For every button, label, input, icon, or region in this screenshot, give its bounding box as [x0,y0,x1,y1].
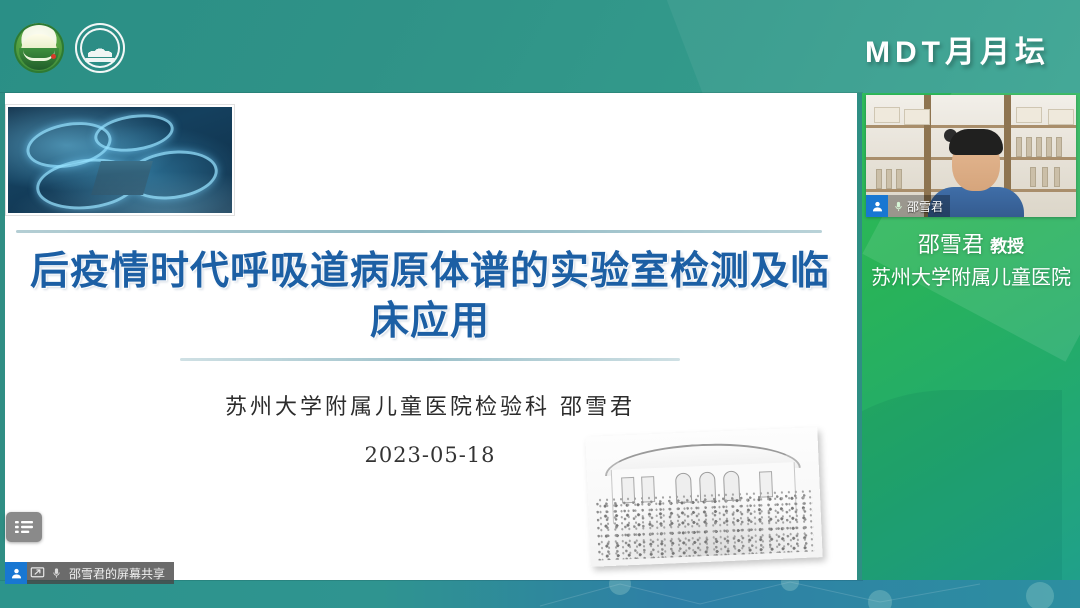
meeting-screen: MDT月月坛 后疫情时代呼吸道病原体谱的实验室检测及临床应用 苏州大学附属儿童医… [0,0,1080,608]
footer-strip [0,580,1080,608]
slide-author: 苏州大学附属儿童医院检验科 邵雪君 [60,389,800,421]
app-header: MDT月月坛 [0,0,1080,93]
video-participant-name: 邵雪君 [907,198,950,215]
speaker-organization: 苏州大学附属儿童医院 [862,264,1080,292]
slide-divider-middle [180,358,680,361]
speaker-name-line: 邵雪君 教授 [862,229,1080,260]
screen-share-icon [27,567,48,580]
shared-screen-slide: 后疫情时代呼吸道病原体谱的实验室检测及临床应用 苏州大学附属儿童医院检验科 邵雪… [0,93,862,580]
speaker-role: 教授 [990,237,1024,256]
brand-title: MDT月月坛 [865,27,1050,71]
university-seal-logo-icon [75,23,125,73]
screen-share-status-bar: 邵雪君的屏幕共享 [5,562,174,584]
hospital-aerial-photo [6,105,234,215]
microphone-icon [888,200,907,213]
organization-logo-green-icon [14,23,64,73]
microphone-icon [48,566,65,580]
participant-icon [5,562,27,584]
speaker-info: 邵雪君 教授 苏州大学附属儿童医院 [862,229,1080,293]
slide-divider-top [16,230,822,233]
speaker-video-tile[interactable]: 邵雪君 [866,95,1076,217]
header-logos [14,23,125,73]
slide-title: 后疫情时代呼吸道病原体谱的实验室检测及临床应用 [30,247,830,347]
speaker-name: 邵雪君 [918,232,984,257]
screen-share-label: 邵雪君的屏幕共享 [65,565,174,582]
speaker-panel: 邵雪君 邵雪君 教授 苏州大学附属儿童医院 [862,93,1080,580]
historic-building-sketch [585,427,822,567]
slide-left-rail [0,93,5,580]
participants-list-button[interactable] [6,512,42,542]
video-name-badge: 邵雪君 [866,195,950,217]
participant-icon [866,195,888,217]
